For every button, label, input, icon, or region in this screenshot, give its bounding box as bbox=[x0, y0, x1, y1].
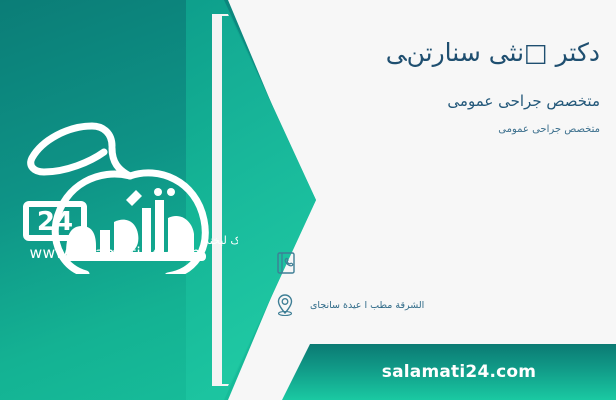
bottom-website-bar[interactable]: salamati24.com bbox=[282, 344, 616, 400]
contact-address-text: الشرقة مطب ا عیدة سانجای bbox=[310, 300, 424, 311]
contact-block: الشرقة مطب ا عیدة سانجای bbox=[270, 248, 600, 332]
doctor-name: دکتر □نثی سنارتنﯽ bbox=[280, 36, 600, 70]
logo-badge-number: 24 bbox=[37, 207, 73, 237]
business-card: 24 براحتی یک لبخند www.salamati24.com دک… bbox=[0, 0, 616, 400]
location-pin-icon bbox=[270, 290, 300, 320]
salamati24-logo: 24 براحتی یک لبخند www.salamati24.com bbox=[8, 104, 238, 274]
logo-website-url: www.salamati24.com bbox=[8, 244, 222, 262]
phonebook-icon bbox=[270, 248, 300, 278]
specialty-primary: متخصص جراحی عمومی bbox=[280, 92, 600, 110]
contact-row-phone[interactable] bbox=[270, 248, 600, 278]
doctor-info-column: دکتر □نثی سنارتنﯽ متخصص جراحی عمومی متخص… bbox=[280, 0, 600, 135]
contact-row-address[interactable]: الشرقة مطب ا عیدة سانجای bbox=[270, 290, 600, 320]
specialty-secondary: متخصص جراحی عمومی bbox=[280, 124, 600, 135]
bottom-bar-website-text: salamati24.com bbox=[362, 362, 536, 382]
